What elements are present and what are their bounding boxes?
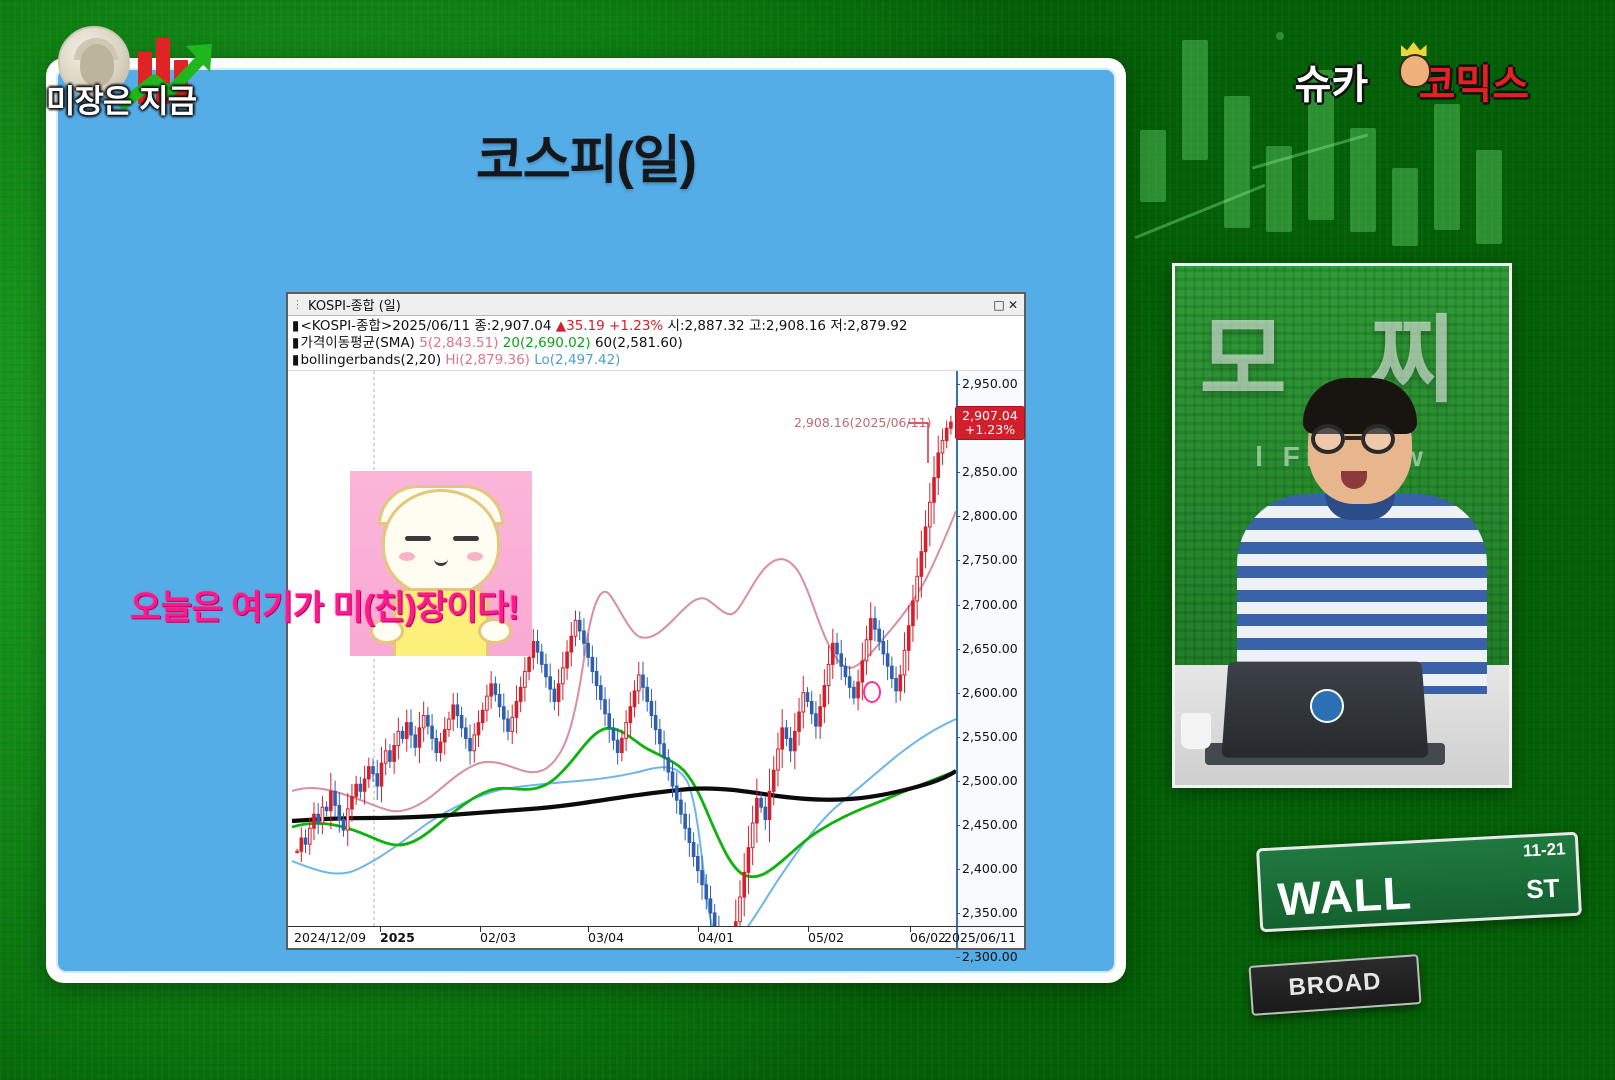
bollinger-lo: Lo(2,497.42) [534,352,620,368]
date-tick-label: 03/04 [588,930,624,945]
price-tick-mark [956,737,960,738]
glasses-bridge-icon [1345,436,1361,440]
price-tick-label: 2,350.00 [962,905,1018,920]
sma-60-value: 60(2,581.60) [595,335,683,351]
channel-logo-top-left: 미장은 지금 [46,22,231,122]
price-tick-mark [956,825,960,826]
quote-date: 2025/06/11 [392,318,470,334]
quote-close: 종:2,907.04 [474,318,551,334]
mascot-icon [1399,54,1431,88]
date-tick-label: 2025/06/11 [944,930,1016,945]
drag-grip-icon[interactable]: ⋮ [292,298,304,311]
plot-area[interactable]: 2,284.72(2025/04/09) 2,908.16(2025/06/11… [288,371,1024,926]
window-titlebar[interactable]: ⋮ KOSPI-종합 (일) □ ✕ [288,294,1024,316]
price-tick-label: 2,800.00 [962,508,1018,523]
price-tick-label: 2,550.00 [962,729,1018,744]
quote-high: 고:2,908.16 [749,318,826,334]
date-tick-label: 2024/12/09 [294,930,366,945]
date-tick-label: 04/01 [698,930,734,945]
quote-low: 저:2,879.92 [830,318,907,334]
wall-sign-name: WALL [1276,865,1413,926]
handwritten-annotation: 오늘은 여기가 미(친)장이다! [130,580,519,629]
date-tick-mark [808,927,809,932]
last-price-badge: 2,907.04+1.23% [955,406,1025,440]
price-tick-label: 2,500.00 [962,773,1018,788]
last-price-pct: +1.23% [956,423,1024,437]
glasses-right-lens-icon [1361,424,1395,454]
info-bullet-1: ▮ [292,318,299,334]
logo-label: 미장은 지금 [46,76,196,122]
info-line-bollinger: ▮bollingerbands(2,20) Hi(2,879.36) Lo(2,… [292,352,1020,369]
date-axis: 2024/12/09202502/0303/0404/0105/0206/022… [288,926,956,948]
maximize-icon[interactable]: □ [992,298,1006,312]
price-tick-mark [956,384,960,385]
price-tick-label: 2,850.00 [962,464,1018,479]
date-tick-label: 02/03 [480,930,516,945]
price-tick-label: 2,400.00 [962,861,1018,876]
page-title: 코스피(일) [58,118,1114,193]
quote-symbol: <KOSPI-종합> [300,318,392,334]
price-tick-mark [956,913,960,914]
show-logo-word-2: 코믹스 [1419,63,1529,107]
candlestick-canvas[interactable]: 2,284.72(2025/04/09) 2,908.16(2025/06/11… [288,371,956,926]
window-title: KOSPI-종합 (일) [308,295,992,314]
sma-20-value: 20(2,690.02) [503,335,591,351]
price-tick-mark [956,781,960,782]
sma-name: 가격이동평균(SMA) [300,335,415,351]
wall-sign-suffix: ST [1526,873,1561,906]
date-tick-mark [910,927,911,932]
chart-info-bar: ▮<KOSPI-종합>2025/06/11 종:2,907.04 ▲35.19 … [288,316,1024,371]
webcam-window: 모 찌 l Fie now [1172,263,1512,788]
wall-street-sign: 11-21 WALL ST [1256,832,1582,933]
date-tick-mark [380,927,381,932]
price-axis: 2,950.002,900.002,850.002,800.002,750.00… [956,371,1024,926]
slide-inner-panel: 코스피(일) 오늘은 여기가 미(친)장이다! ⋮ KOSPI-종합 (일) □… [56,68,1116,973]
bollinger-hi: Hi(2,879.36) [445,352,530,368]
date-tick-mark [480,927,481,932]
quote-open: 시:2,887.32 [668,318,745,334]
date-tick-mark [588,927,589,932]
price-tick-mark [956,957,960,958]
quote-change-pct: +1.23% [609,318,663,334]
show-logo-top-right: 슈카 코믹스 [1295,52,1529,110]
price-tick-mark [956,649,960,650]
date-tick-label: 06/02 [910,930,946,945]
price-tick-label: 2,600.00 [962,685,1018,700]
price-tick-label: 2,300.00 [962,949,1018,964]
price-tick-mark [956,605,960,606]
presentation-slide: 코스피(일) 오늘은 여기가 미(친)장이다! ⋮ KOSPI-종합 (일) □… [46,58,1126,983]
price-tick-label: 2,700.00 [962,597,1018,612]
info-line-quote: ▮<KOSPI-종합>2025/06/11 종:2,907.04 ▲35.19 … [292,318,1020,335]
price-tick-mark [956,516,960,517]
price-tick-label: 2,450.00 [962,817,1018,832]
glasses-left-lens-icon [1311,424,1345,454]
info-bullet-2: ▮ [292,335,299,351]
date-tick-label: 2025 [380,930,415,945]
price-tick-label: 2,750.00 [962,552,1018,567]
coffee-cup-icon [1181,713,1211,749]
info-bullet-3: ▮ [292,352,299,368]
info-line-sma: ▮가격이동평균(SMA) 5(2,843.51) 20(2,690.02) 60… [292,335,1020,352]
laptop-sticker-icon [1310,689,1344,723]
price-tick-mark [956,560,960,561]
date-tick-mark [698,927,699,932]
date-tick-label: 05/02 [808,930,844,945]
close-icon[interactable]: ✕ [1006,298,1020,312]
price-tick-mark [956,472,960,473]
price-tick-mark [956,869,960,870]
sma-5-value: 5(2,843.51) [419,335,498,351]
price-tick-mark [956,693,960,694]
highlight-circle [863,681,881,703]
price-tick-label: 2,950.00 [962,376,1018,391]
period-high-label: 2,908.16(2025/06/11) [794,415,931,430]
wall-sign-number: 11-21 [1522,839,1566,861]
last-price-value: 2,907.04 [956,409,1024,423]
bollinger-name: bollingerbands(2,20) [300,352,441,368]
bottom-axis-row: 2024/12/09202502/0303/0404/0105/0206/022… [288,926,1024,948]
quote-change: ▲35.19 [556,318,605,334]
price-tick-label: 2,650.00 [962,641,1018,656]
show-logo-word-1: 슈카 [1295,63,1369,107]
